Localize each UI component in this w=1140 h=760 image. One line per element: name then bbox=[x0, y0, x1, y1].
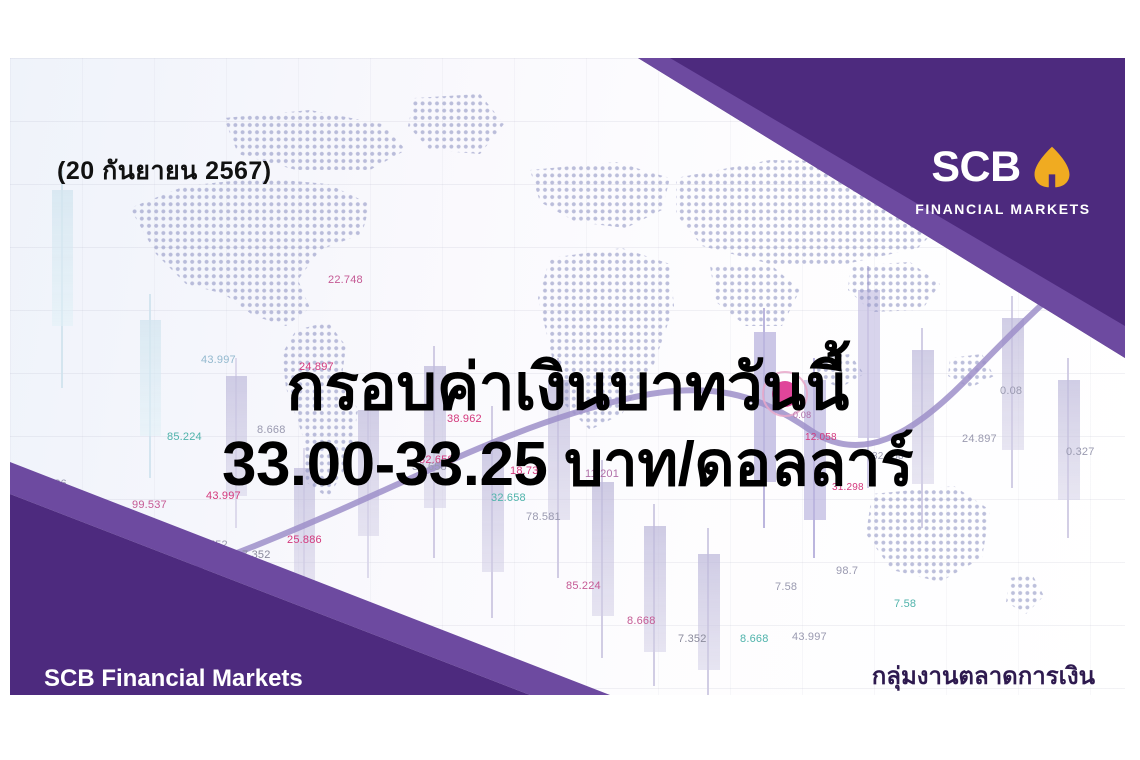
publication-date: (20 กันยายน 2567) bbox=[57, 151, 272, 191]
contact-org-name: SCB Financial Markets bbox=[44, 662, 303, 695]
scb-wordmark-row: SCB bbox=[909, 144, 1097, 190]
headline-block: กรอบค่าเงินบาทวันนี้ 33.00-33.25 บาท/ดอล… bbox=[10, 354, 1125, 498]
contact-block: SCB Financial Markets Line id : @SCBFX bbox=[44, 662, 303, 695]
scb-logo-subtitle: FINANCIAL MARKETS bbox=[909, 201, 1097, 217]
headline-line-2: 33.00-33.25 บาท/ดอลลาร์ bbox=[10, 432, 1125, 498]
scb-logo: SCB FINANCIAL MARKETS bbox=[909, 144, 1097, 217]
organization-bank-name: ธนาคารไทยพาณิชย์ bbox=[872, 694, 1095, 695]
headline-line-1: กรอบค่าเงินบาทวันนี้ bbox=[10, 354, 1125, 422]
organization-block: กลุ่มงานตลาดการเงิน ธนาคารไทยพาณิชย์ bbox=[872, 660, 1095, 695]
scb-wordmark-text: SCB bbox=[931, 146, 1020, 189]
banner-card: 22.74843.99724.89785.2248.66838.96232.65… bbox=[10, 58, 1125, 695]
banner-canvas: 22.74843.99724.89785.2248.66838.96232.65… bbox=[0, 0, 1140, 760]
scb-bodhi-leaf-icon bbox=[1029, 144, 1075, 190]
organization-division: กลุ่มงานตลาดการเงิน bbox=[872, 660, 1095, 694]
